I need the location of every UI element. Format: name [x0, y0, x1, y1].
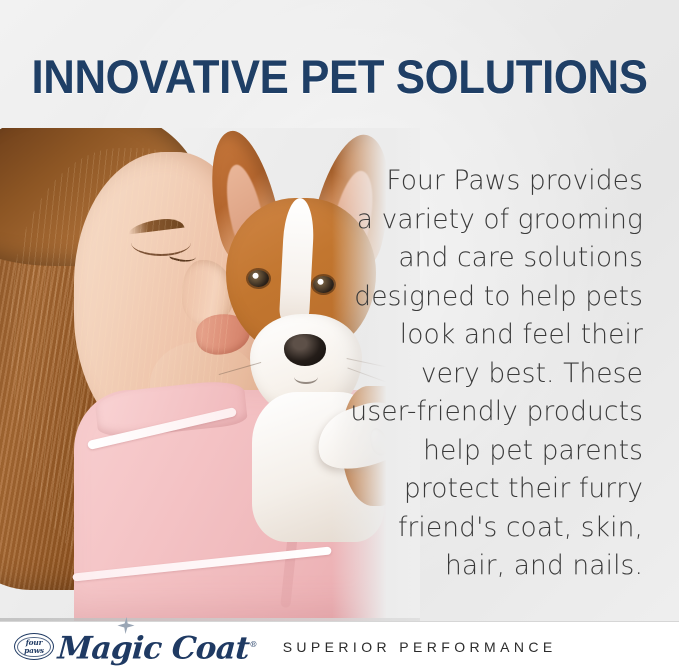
brand-tagline: SUPERIOR PERFORMANCE [283, 639, 557, 655]
body-line: a variety of grooming [313, 201, 643, 240]
body-line: Four Paws provides [313, 162, 643, 201]
registered-mark: ® [249, 640, 257, 649]
brand-footer: four paws Magic Coat® SUPERIOR PERFORMAN… [0, 621, 679, 672]
brand-wordmark: Magic Coat® [57, 628, 264, 665]
four-paws-logo-icon: four paws [14, 633, 54, 660]
body-line: hair, and nails. [313, 547, 643, 586]
body-line: very best. These [313, 355, 643, 394]
body-line: designed to help pets [313, 278, 643, 317]
body-line: protect their furry [313, 470, 643, 509]
brand-lockup: four paws Magic Coat® SUPERIOR PERFORMAN… [0, 628, 557, 665]
body-line: friend's coat, skin, [313, 509, 643, 548]
body-line: look and feel their [313, 316, 643, 355]
four-paws-line-2: paws [24, 647, 44, 655]
brand-wordmark-text: Magic Coat [57, 631, 251, 667]
advertisement-banner: INNOVATIVE PET SOLUTIONS [0, 0, 679, 672]
page-title: INNOVATIVE PET SOLUTIONS [24, 50, 655, 104]
body-line: user-friendly products [313, 393, 643, 432]
body-paragraph: Four Paws provides a variety of grooming… [313, 162, 643, 586]
body-line: and care solutions [313, 239, 643, 278]
sparkle-star-icon [117, 617, 135, 634]
puppy-eye-left [248, 270, 269, 287]
body-line: help pet parents [313, 432, 643, 471]
